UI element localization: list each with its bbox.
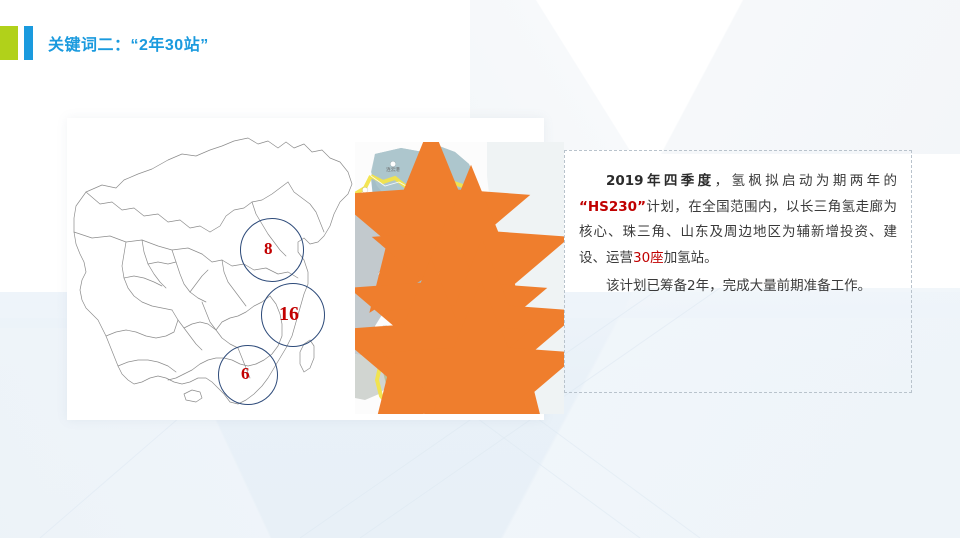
- station-star-ningbo: [377, 244, 565, 414]
- title-accent-bar-blue: [24, 26, 33, 60]
- region-highlight-circles: 8 16 6: [72, 132, 357, 414]
- background-corner-triangle-right: [490, 0, 960, 154]
- title-accent-bar-green: [0, 26, 18, 60]
- yangtze-delta-detail-map: 连云港 宿迁 淮安 盐城 扬州 南京 镇江 泰州 南通 常州 无锡 苏州 宣城 …: [355, 142, 564, 414]
- region-count-pearl-delta: 6: [241, 365, 250, 382]
- plan-name: “HS230”: [579, 199, 646, 215]
- description-paragraph-2: 该计划已筹备2年，完成大量前期准备工作。: [579, 274, 897, 300]
- description-paragraph-1: 2019年四季度，氢枫拟启动为期两年的“HS230”计划，在全国范围内，以长三角…: [579, 169, 897, 271]
- region-count-shandong: 8: [264, 240, 273, 257]
- slide-title-row: 关键词二：“2年30站”: [0, 26, 209, 60]
- paragraph1-part1: ，氢枫拟启动为期两年的: [715, 173, 897, 189]
- page-title: 关键词二：“2年30站”: [48, 31, 209, 55]
- paragraph1-part3: 加氢站。: [664, 250, 718, 266]
- station-count: 30座: [633, 250, 664, 266]
- lead-date: 2019年四季度: [606, 173, 715, 189]
- description-panel: 2019年四季度，氢枫拟启动为期两年的“HS230”计划，在全国范围内，以长三角…: [564, 150, 912, 393]
- region-count-yangtze-delta: 16: [279, 304, 299, 324]
- slide-root: 关键词二：“2年30站”: [0, 0, 960, 538]
- paragraph2-text: 该计划已筹备2年，完成大量前期准备工作。: [606, 278, 871, 294]
